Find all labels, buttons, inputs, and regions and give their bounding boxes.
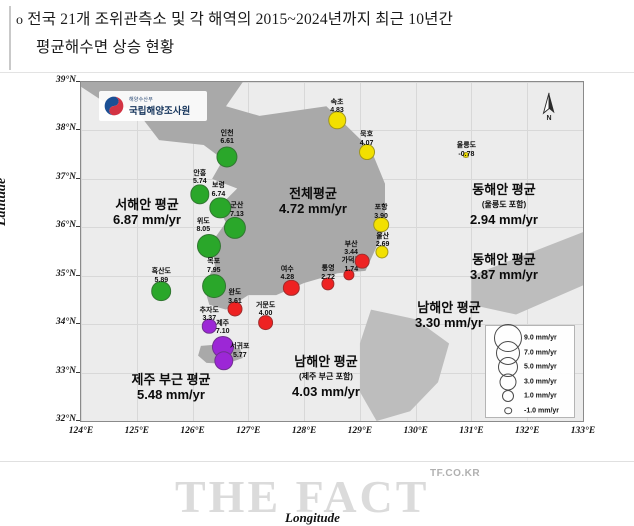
region-average-title: 남해안 평균 bbox=[415, 300, 483, 315]
region-average-title: 동해안 평균 bbox=[470, 252, 538, 267]
y-axis-tick-label: 33°N bbox=[34, 366, 76, 376]
y-axis-tick-label: 38°N bbox=[34, 123, 76, 133]
heading-left-rule bbox=[9, 6, 11, 70]
watermark-url: TF.CO.KR bbox=[430, 468, 480, 479]
region-average-subtitle: (울릉도 포함) bbox=[470, 197, 538, 212]
station-name: 통영 bbox=[321, 265, 335, 274]
x-axis-tick-label: 129°E bbox=[344, 426, 376, 436]
region-average-title: 동해안 평균 bbox=[470, 182, 538, 197]
y-axis-tick-label: 37°N bbox=[34, 172, 76, 182]
station-value: 3.44 bbox=[344, 249, 358, 258]
korea-hydrographic-and-oceanographic-agency-logo: 해양수산부 국립해양조사원 bbox=[99, 91, 207, 121]
station-label: 인천6.61 bbox=[220, 130, 234, 147]
station-label: 여수4.28 bbox=[280, 266, 294, 283]
station-value: 6.61 bbox=[220, 138, 234, 147]
region-average-title: 서해안 평균 bbox=[113, 197, 181, 212]
station-name: 완도 bbox=[228, 289, 242, 298]
region-average-annotation: 서해안 평균6.87 mm/yr bbox=[113, 197, 181, 227]
station-value: 2.72 bbox=[321, 274, 335, 283]
station-value: 2.69 bbox=[376, 241, 390, 250]
region-average-title: 남해안 평균 bbox=[292, 354, 360, 369]
x-axis-tick-label: 125°E bbox=[121, 426, 153, 436]
region-average-annotation: 전체평균4.72 mm/yr bbox=[279, 186, 347, 216]
station-name: 속초 bbox=[330, 99, 344, 108]
legend-label: -1.0 mm/yr bbox=[524, 407, 559, 414]
station-label: 위도8.05 bbox=[196, 218, 210, 235]
station-name: 제주 bbox=[216, 320, 230, 329]
bubble-size-legend: 9.0 mm/yr7.0 mm/yr5.0 mm/yr3.0 mm/yr1.0 … bbox=[485, 325, 575, 418]
station-label: 울산2.69 bbox=[376, 233, 390, 250]
station-label: 흑산도5.89 bbox=[152, 268, 171, 285]
region-average-value: 3.30 mm/yr bbox=[415, 315, 483, 330]
legend-label: 5.0 mm/yr bbox=[524, 364, 557, 371]
x-axis-tick-label: 128°E bbox=[288, 426, 320, 436]
region-average-value: 4.72 mm/yr bbox=[279, 201, 347, 216]
station-value: 4.83 bbox=[330, 107, 344, 116]
y-axis-tick-label: 32°N bbox=[34, 414, 76, 424]
region-average-title: 전체평균 bbox=[279, 186, 347, 201]
y-axis-tick-label: 34°N bbox=[34, 317, 76, 327]
station-name: 부산 bbox=[344, 241, 358, 250]
region-average-value: 2.94 mm/yr bbox=[470, 212, 538, 227]
station-name: 목포 bbox=[207, 258, 221, 267]
map-plot-area[interactable]: 인천6.61안흥5.74보령6.74군산7.13위도8.05목포7.95흑산도5… bbox=[80, 81, 584, 422]
station-name: 안흥 bbox=[193, 170, 207, 179]
y-axis-tick-label: 36°N bbox=[34, 220, 76, 230]
station-name: 묵호 bbox=[360, 131, 374, 140]
x-axis-tick-label: 127°E bbox=[232, 426, 264, 436]
station-name: 서귀포 bbox=[230, 343, 249, 352]
x-axis-tick-label: 132°E bbox=[511, 426, 543, 436]
region-average-value: 6.87 mm/yr bbox=[113, 212, 181, 227]
region-average-annotation: 남해안 평균(제주 부근 포함)4.03 mm/yr bbox=[292, 354, 360, 399]
region-average-value: 5.48 mm/yr bbox=[132, 387, 211, 402]
logo-agency-text: 국립해양조사원 bbox=[129, 103, 190, 117]
legend-bubble bbox=[500, 373, 517, 390]
station-name: 흑산도 bbox=[152, 268, 171, 277]
station-label: 포항3.90 bbox=[374, 204, 388, 221]
station-label: 울릉도-0.78 bbox=[457, 142, 476, 159]
logo-ministry-text: 해양수산부 bbox=[129, 96, 153, 103]
station-marker[interactable] bbox=[202, 274, 226, 298]
heading-line-1-text: 전국 21개 조위관측소 및 각 해역의 2015~2024년까지 최근 10년… bbox=[27, 11, 453, 28]
region-average-title: 제주 부근 평균 bbox=[132, 372, 211, 387]
x-axis-tick-label: 133°E bbox=[567, 426, 599, 436]
station-value: -0.78 bbox=[457, 151, 476, 160]
station-label: 완도3.61 bbox=[228, 289, 242, 306]
station-name: 울릉도 bbox=[457, 142, 476, 151]
x-axis-tick-label: 131°E bbox=[455, 426, 487, 436]
region-average-annotation: 동해안 평균3.87 mm/yr bbox=[470, 252, 538, 282]
station-label: 서귀포5.77 bbox=[230, 343, 249, 360]
station-label: 제주7.10 bbox=[216, 320, 230, 337]
station-name: 인천 bbox=[220, 130, 234, 139]
station-name: 포항 bbox=[374, 204, 388, 213]
station-value: 4.00 bbox=[256, 310, 275, 319]
y-axis-tick-label: 35°N bbox=[34, 269, 76, 279]
y-axis-title: Latitude bbox=[0, 178, 10, 226]
station-label: 속초4.83 bbox=[330, 99, 344, 116]
taegeuk-swirl-icon bbox=[103, 95, 125, 117]
station-value: 7.95 bbox=[207, 267, 221, 276]
station-name: 보령 bbox=[212, 182, 226, 191]
station-name: 군산 bbox=[230, 202, 244, 211]
station-name: 추자도 bbox=[200, 307, 219, 316]
compass-n-label: N bbox=[536, 115, 562, 122]
bottom-divider bbox=[0, 461, 634, 462]
region-average-value: 4.03 mm/yr bbox=[292, 384, 360, 399]
station-value: 5.89 bbox=[152, 277, 171, 286]
region-average-annotation: 남해안 평균3.30 mm/yr bbox=[415, 300, 483, 330]
x-axis-tick-label: 126°E bbox=[177, 426, 209, 436]
gridline-vertical bbox=[583, 82, 584, 421]
station-value: 3.90 bbox=[374, 213, 388, 222]
station-label: 묵호4.07 bbox=[360, 131, 374, 148]
station-label: 군산7.13 bbox=[230, 202, 244, 219]
legend-label: 7.0 mm/yr bbox=[524, 349, 557, 356]
y-axis-tick-label: 39°N bbox=[34, 75, 76, 85]
station-label: 통영2.72 bbox=[321, 265, 335, 282]
legend-label: 3.0 mm/yr bbox=[524, 378, 557, 385]
station-marker[interactable] bbox=[217, 147, 238, 168]
heading-bullet: o bbox=[16, 13, 23, 28]
legend-label: 9.0 mm/yr bbox=[524, 335, 557, 342]
station-marker[interactable] bbox=[197, 234, 221, 258]
legend-label: 1.0 mm/yr bbox=[524, 393, 557, 400]
station-value: 5.77 bbox=[230, 352, 249, 361]
legend-bubble bbox=[504, 407, 512, 415]
region-average-subtitle: (제주 부근 포함) bbox=[292, 369, 360, 384]
station-value: 5.74 bbox=[193, 178, 207, 187]
region-average-value: 3.87 mm/yr bbox=[470, 267, 538, 282]
watermark-thefact: THE FACT bbox=[175, 470, 429, 523]
station-value: 7.13 bbox=[230, 211, 244, 220]
heading-block: o 전국 21개 조위관측소 및 각 해역의 2015~2024년까지 최근 1… bbox=[0, 0, 634, 76]
heading-line-2-text: 평균해수면 상승 현황 bbox=[36, 38, 174, 58]
figure-container: Latitude Longitude 32°N33°N34°N35°N36°N3… bbox=[0, 76, 634, 460]
x-axis-tick-label: 124°E bbox=[65, 426, 97, 436]
x-axis-tick-label: 130°E bbox=[400, 426, 432, 436]
gridline-horizontal bbox=[81, 421, 583, 422]
station-label: 안흥5.74 bbox=[193, 170, 207, 187]
station-value: 4.28 bbox=[280, 274, 294, 283]
station-label: 목포7.95 bbox=[207, 258, 221, 275]
station-value: 6.74 bbox=[212, 191, 226, 200]
heading-line-1: o 전국 21개 조위관측소 및 각 해역의 2015~2024년까지 최근 1… bbox=[16, 10, 453, 31]
region-average-annotation: 제주 부근 평균5.48 mm/yr bbox=[132, 372, 211, 402]
station-name: 위도 bbox=[196, 218, 210, 227]
figure-top-divider bbox=[0, 72, 634, 73]
station-name: 거문도 bbox=[256, 302, 275, 311]
station-name: 울산 bbox=[376, 233, 390, 242]
region-average-annotation: 동해안 평균(울릉도 포함)2.94 mm/yr bbox=[470, 182, 538, 227]
station-value: 8.05 bbox=[196, 226, 210, 235]
station-value: 3.61 bbox=[228, 298, 242, 307]
station-label: 보령6.74 bbox=[212, 182, 226, 199]
station-name: 여수 bbox=[280, 266, 294, 275]
station-value: 7.10 bbox=[216, 328, 230, 337]
north-arrow-icon bbox=[536, 92, 562, 116]
station-value: 4.07 bbox=[360, 140, 374, 149]
legend-bubble bbox=[502, 390, 514, 402]
station-label: 부산3.44 bbox=[344, 241, 358, 258]
compass-north-arrow: N bbox=[536, 92, 562, 126]
station-label: 거문도4.00 bbox=[256, 302, 275, 319]
